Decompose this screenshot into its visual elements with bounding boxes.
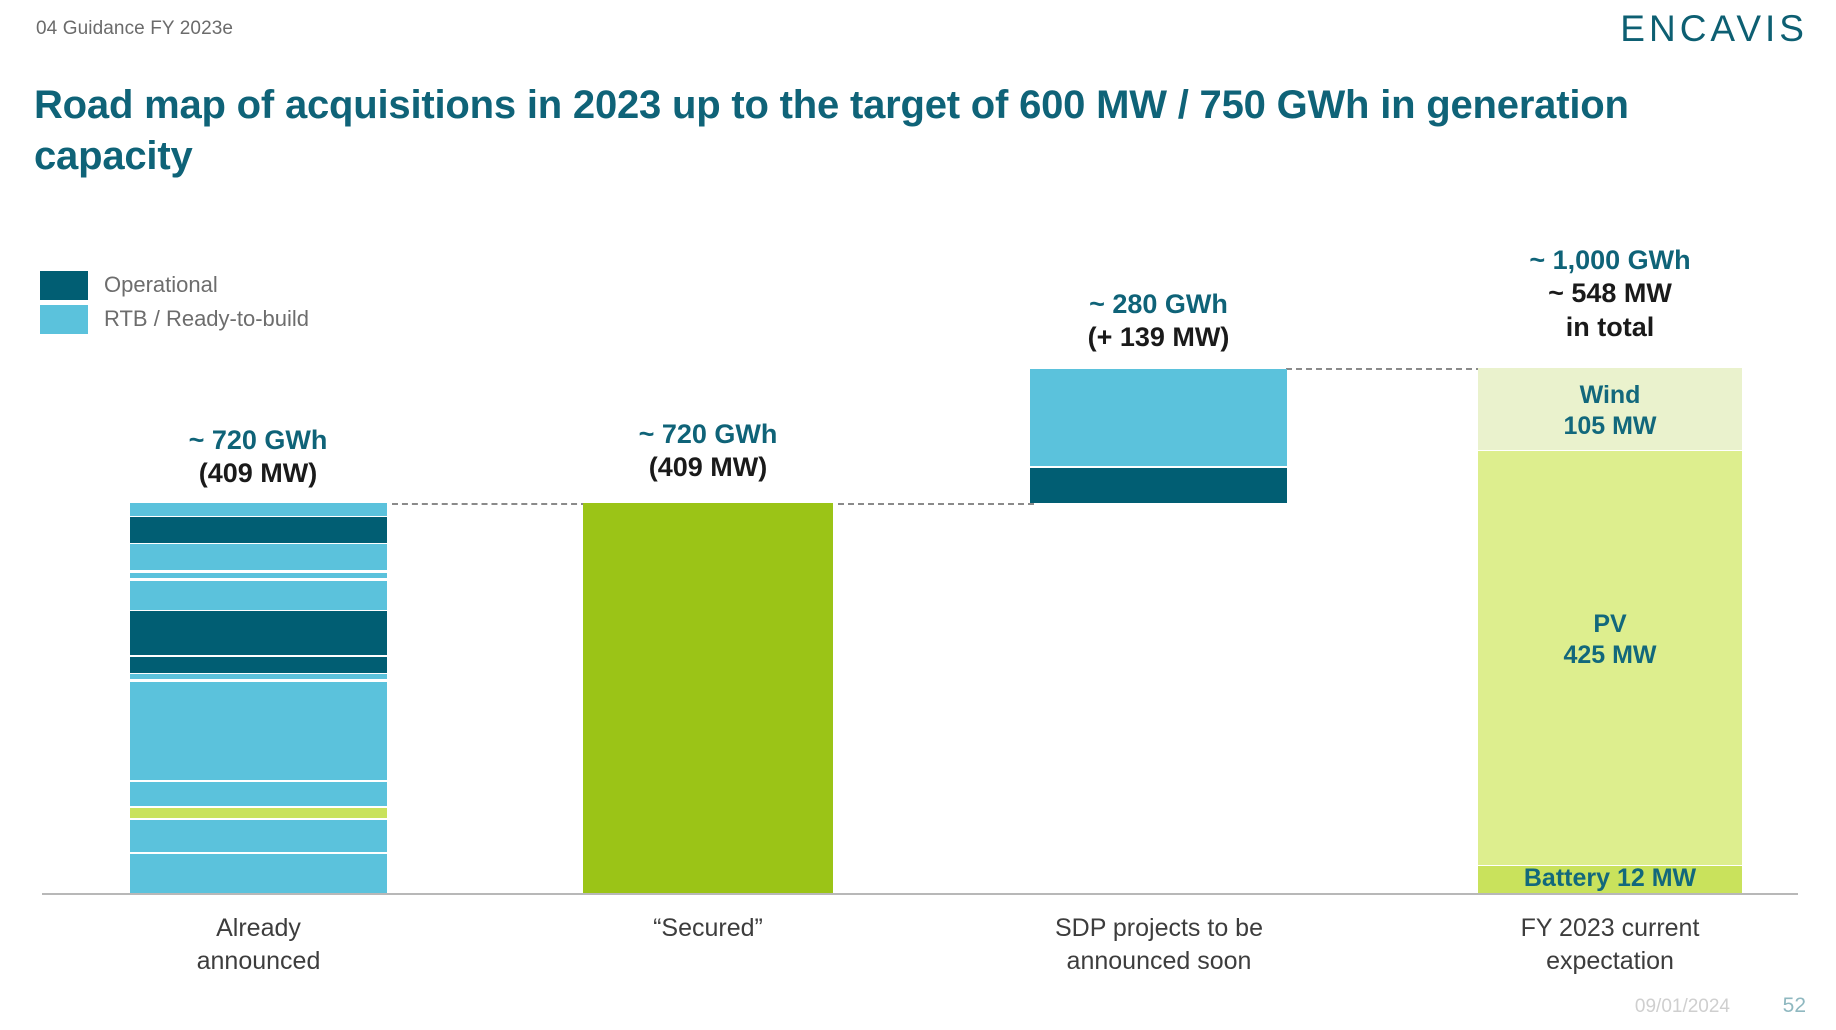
bar-value-sdp-projects: ~ 280 GWh (+ 139 MW) bbox=[1030, 288, 1287, 355]
bar-segment-operational bbox=[130, 517, 387, 543]
bar-value-gwh: ~ 1,000 GWh bbox=[1478, 244, 1742, 277]
segment-label-line2: 425 MW bbox=[1478, 640, 1742, 671]
bar-segment-rtb bbox=[130, 544, 387, 570]
bar-value-already-announced: ~ 720 GWh (409 MW) bbox=[130, 424, 386, 491]
bar-value-fy2023-expectation: ~ 1,000 GWh ~ 548 MW in total bbox=[1478, 244, 1742, 344]
slide-root: 04 Guidance FY 2023e ENCAVIS Road map of… bbox=[0, 0, 1836, 1030]
chart-baseline bbox=[42, 893, 1798, 895]
bar-value-mw: (409 MW) bbox=[130, 457, 386, 490]
bar-segment-rtb bbox=[130, 854, 387, 893]
connector-bar1-bar2 bbox=[392, 503, 587, 505]
category-label-line1: FY 2023 current bbox=[1478, 912, 1742, 945]
bar-segment-battery bbox=[130, 808, 387, 818]
bar-already-announced[interactable] bbox=[130, 503, 387, 893]
bar-segment-label-wind: Wind 105 MW bbox=[1478, 380, 1742, 441]
bar-segment-pv: PV 425 MW bbox=[1478, 451, 1742, 865]
bar-value-mw: ~ 548 MW bbox=[1478, 277, 1742, 310]
segment-label-line1: Wind bbox=[1478, 380, 1742, 411]
chart-plot-area: ~ 720 GWh (409 MW) Already announced ~ 7… bbox=[0, 0, 1836, 1030]
category-label-line2: announced bbox=[130, 945, 387, 978]
bar-segment-rtb bbox=[130, 782, 387, 806]
bar-segment-rtb bbox=[130, 581, 387, 610]
category-label-line1: Already bbox=[130, 912, 387, 945]
category-label-already-announced: Already announced bbox=[130, 912, 387, 978]
bar-value-mw: (+ 139 MW) bbox=[1030, 321, 1287, 354]
bar-value-mw: (409 MW) bbox=[583, 451, 833, 484]
category-label-sdp-projects: SDP projects to be announced soon bbox=[1009, 912, 1309, 978]
category-label-line1: “Secured” bbox=[583, 912, 833, 945]
bar-segment-wind: Wind 105 MW bbox=[1478, 368, 1742, 450]
bar-value-gwh: ~ 720 GWh bbox=[583, 418, 833, 451]
bar-segment-rtb bbox=[130, 820, 387, 852]
segment-label-line1: Battery 12 MW bbox=[1478, 863, 1742, 894]
bar-value-extra: in total bbox=[1478, 311, 1742, 344]
category-label-line2: announced soon bbox=[1009, 945, 1309, 978]
footer-page-number: 52 bbox=[1783, 994, 1806, 1018]
bar-segment-operational bbox=[130, 657, 387, 673]
bar-value-gwh: ~ 280 GWh bbox=[1030, 288, 1287, 321]
footer-date: 09/01/2024 bbox=[1635, 996, 1730, 1018]
bar-segment-rtb bbox=[130, 682, 387, 780]
bar-segment-rtb bbox=[1030, 369, 1287, 466]
bar-segment-rtb bbox=[130, 503, 387, 516]
bar-segment-operational bbox=[130, 611, 387, 655]
bar-sdp-projects[interactable] bbox=[1030, 369, 1287, 503]
category-label-line1: SDP projects to be bbox=[1009, 912, 1309, 945]
connector-bar3-bar4 bbox=[1286, 368, 1482, 370]
category-label-line2: expectation bbox=[1478, 945, 1742, 978]
bar-value-secured: ~ 720 GWh (409 MW) bbox=[583, 418, 833, 485]
bar-segment-secured bbox=[583, 503, 833, 893]
bar-segment-rtb bbox=[130, 573, 387, 578]
connector-bar2-bar3 bbox=[838, 503, 1034, 505]
category-label-secured: “Secured” bbox=[583, 912, 833, 945]
bar-secured[interactable] bbox=[583, 503, 833, 893]
segment-label-line1: PV bbox=[1478, 609, 1742, 640]
bar-fy2023-expectation[interactable]: Wind 105 MW PV 425 MW Battery 12 MW bbox=[1478, 368, 1742, 893]
bar-segment-label-battery: Battery 12 MW bbox=[1478, 863, 1742, 894]
bar-segment-rtb bbox=[130, 674, 387, 679]
bar-segment-operational bbox=[1030, 468, 1287, 503]
bar-value-gwh: ~ 720 GWh bbox=[130, 424, 386, 457]
segment-label-line2: 105 MW bbox=[1478, 411, 1742, 442]
bar-segment-battery: Battery 12 MW bbox=[1478, 866, 1742, 893]
category-label-fy2023-expectation: FY 2023 current expectation bbox=[1478, 912, 1742, 978]
bar-segment-label-pv: PV 425 MW bbox=[1478, 609, 1742, 670]
